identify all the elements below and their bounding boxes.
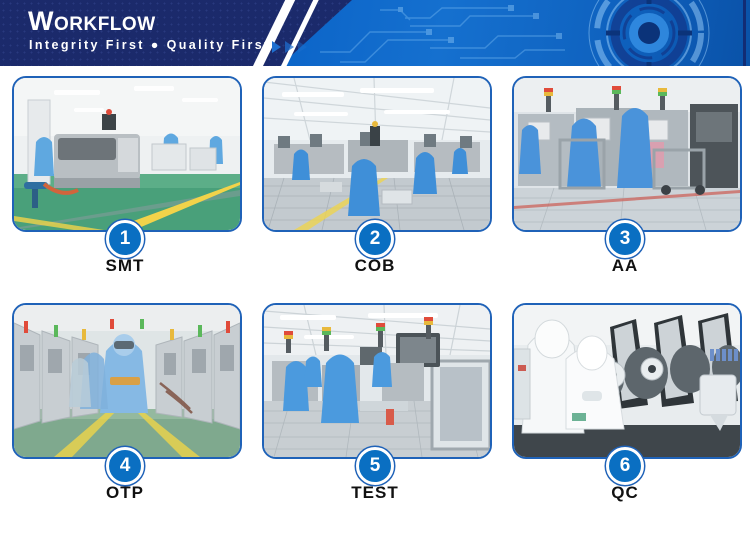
test-station-photo [264, 305, 490, 457]
aa-active-alignment-photo [514, 78, 740, 230]
step-badge: 2 [356, 220, 394, 258]
step-card[interactable] [262, 76, 492, 232]
step-card[interactable] [512, 303, 742, 459]
workflow-step[interactable]: 3 AA [500, 66, 750, 293]
step-card[interactable] [12, 303, 242, 459]
circuit-pattern-icon [310, 0, 570, 66]
step-card[interactable] [512, 76, 742, 232]
step-label: QC [500, 483, 750, 503]
workflow-step[interactable]: 6 QC [500, 293, 750, 520]
otp-programming-aisle-photo [14, 305, 240, 457]
workflow-step[interactable]: 2 COB [250, 66, 500, 293]
banner-edge-line [743, 0, 746, 66]
step-label: OTP [0, 483, 250, 503]
smt-assembly-line-photo [14, 78, 240, 230]
workflow-step[interactable]: 5 TEST [250, 293, 500, 520]
workflow-step[interactable]: 4 OTP [0, 293, 250, 520]
tech-rings-icon [586, 0, 712, 66]
page-title: Workflow [28, 6, 156, 36]
step-badge: 5 [356, 447, 394, 485]
triangle-right-icon [298, 41, 307, 53]
cob-cleanroom-photo [264, 78, 490, 230]
triangle-right-icon [285, 41, 294, 53]
step-label: COB [250, 256, 500, 276]
step-label: AA [500, 256, 750, 276]
page-subtitle: Integrity First ● Quality First [29, 38, 271, 52]
page-banner: Workflow Integrity First ● Quality First [0, 0, 750, 66]
workflow-step[interactable]: 1 SMT [0, 66, 250, 293]
step-card[interactable] [262, 303, 492, 459]
step-badge: 6 [606, 447, 644, 485]
qc-inspection-photo [514, 305, 740, 457]
step-badge: 1 [106, 220, 144, 258]
step-label: SMT [0, 256, 250, 276]
arrow-group [272, 41, 307, 53]
step-badge: 4 [106, 447, 144, 485]
step-label: TEST [250, 483, 500, 503]
step-badge: 3 [606, 220, 644, 258]
triangle-right-icon [272, 41, 281, 53]
workflow-grid: 1 SMT [0, 66, 750, 520]
step-card[interactable] [12, 76, 242, 232]
